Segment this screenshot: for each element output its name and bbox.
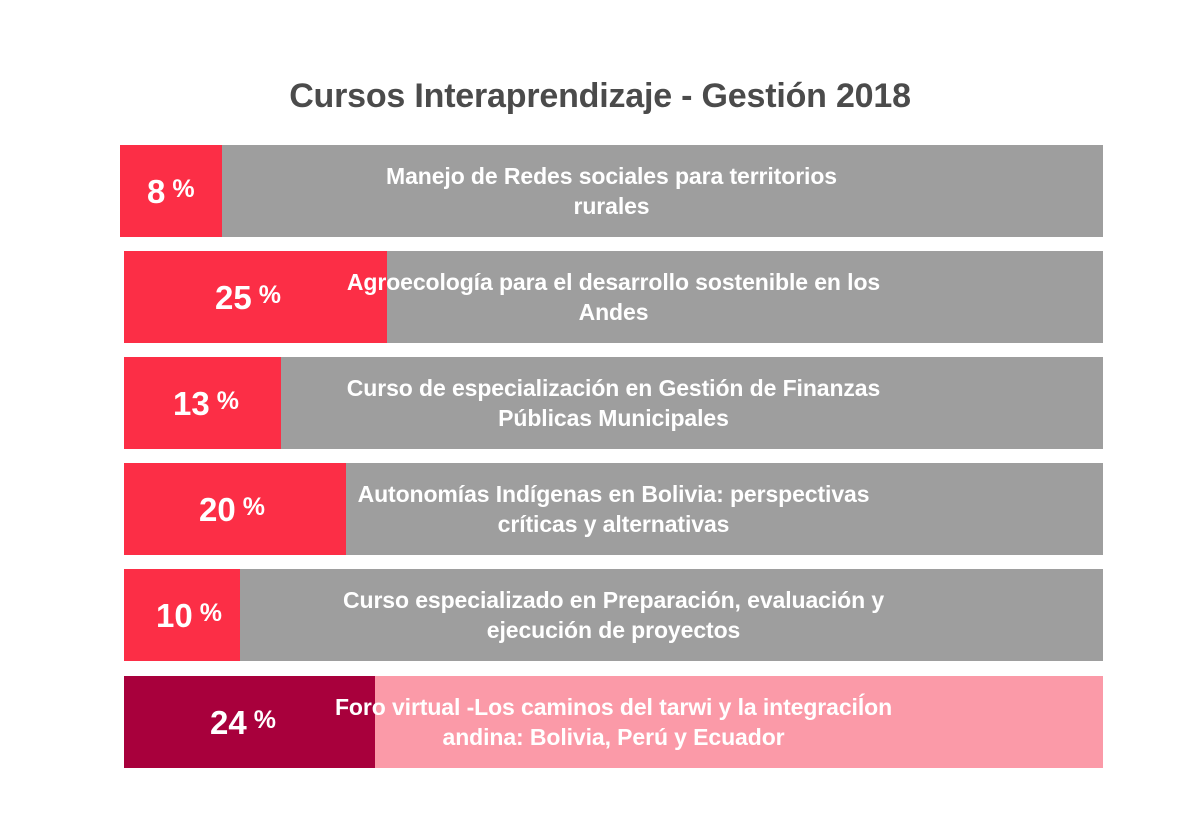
bar-value-number: 24 [210, 706, 247, 739]
bar-category-label-line: rurales [134, 191, 1089, 221]
bar-category-label: Autonomías Indígenas en Bolivia: perspec… [124, 463, 1103, 555]
bar-row: Curso especializado en Preparación, eval… [124, 569, 1103, 661]
bar-category-label-line: Foro virtual -Los caminos del tarwi y la… [138, 692, 1089, 722]
bar-category-label-line: Públicas Municipales [138, 403, 1089, 433]
bar-category-label-line: andina: Bolivia, Perú y Ecuador [138, 722, 1089, 752]
bar-category-label-line: Curso especializado en Preparación, eval… [138, 585, 1089, 615]
bar-row: Manejo de Redes sociales para territorio… [120, 145, 1103, 237]
bar-category-label: Curso de especialización en Gestión de F… [124, 357, 1103, 449]
bar-value-percent-sign: % [243, 495, 265, 520]
bar-category-label-line: ejecución de proyectos [138, 615, 1089, 645]
bar-category-label-line: críticas y alternativas [138, 509, 1089, 539]
bar-row: Agroecología para el desarrollo sostenib… [124, 251, 1103, 343]
bar-value-number: 13 [173, 387, 210, 420]
bar-value-number: 25 [215, 281, 252, 314]
bar-value-label: 10% [156, 569, 222, 661]
bar-category-label-line: Manejo de Redes sociales para territorio… [134, 161, 1089, 191]
infographic-slide: Cursos Interaprendizaje - Gestión 2018 M… [0, 0, 1200, 834]
bar-value-label: 25% [215, 251, 281, 343]
bar-chart: Manejo de Redes sociales para territorio… [0, 0, 1200, 834]
bar-value-number: 8 [147, 175, 165, 208]
bar-value-number: 10 [156, 599, 193, 632]
bar-value-percent-sign: % [217, 389, 239, 414]
bar-value-percent-sign: % [254, 708, 276, 733]
bar-value-percent-sign: % [259, 283, 281, 308]
bar-row: Autonomías Indígenas en Bolivia: perspec… [124, 463, 1103, 555]
bar-value-percent-sign: % [172, 177, 194, 202]
bar-category-label: Manejo de Redes sociales para territorio… [120, 145, 1103, 237]
bar-value-label: 24% [210, 676, 276, 768]
bar-value-label: 20% [199, 463, 265, 555]
bar-row: Curso de especialización en Gestión de F… [124, 357, 1103, 449]
bar-category-label: Curso especializado en Preparación, eval… [124, 569, 1103, 661]
bar-row: Foro virtual -Los caminos del tarwi y la… [124, 676, 1103, 768]
bar-value-percent-sign: % [200, 601, 222, 626]
bar-value-label: 8% [147, 145, 195, 237]
bar-value-label: 13% [173, 357, 239, 449]
bar-value-number: 20 [199, 493, 236, 526]
bar-category-label-line: Autonomías Indígenas en Bolivia: perspec… [138, 479, 1089, 509]
bar-category-label-line: Curso de especialización en Gestión de F… [138, 373, 1089, 403]
